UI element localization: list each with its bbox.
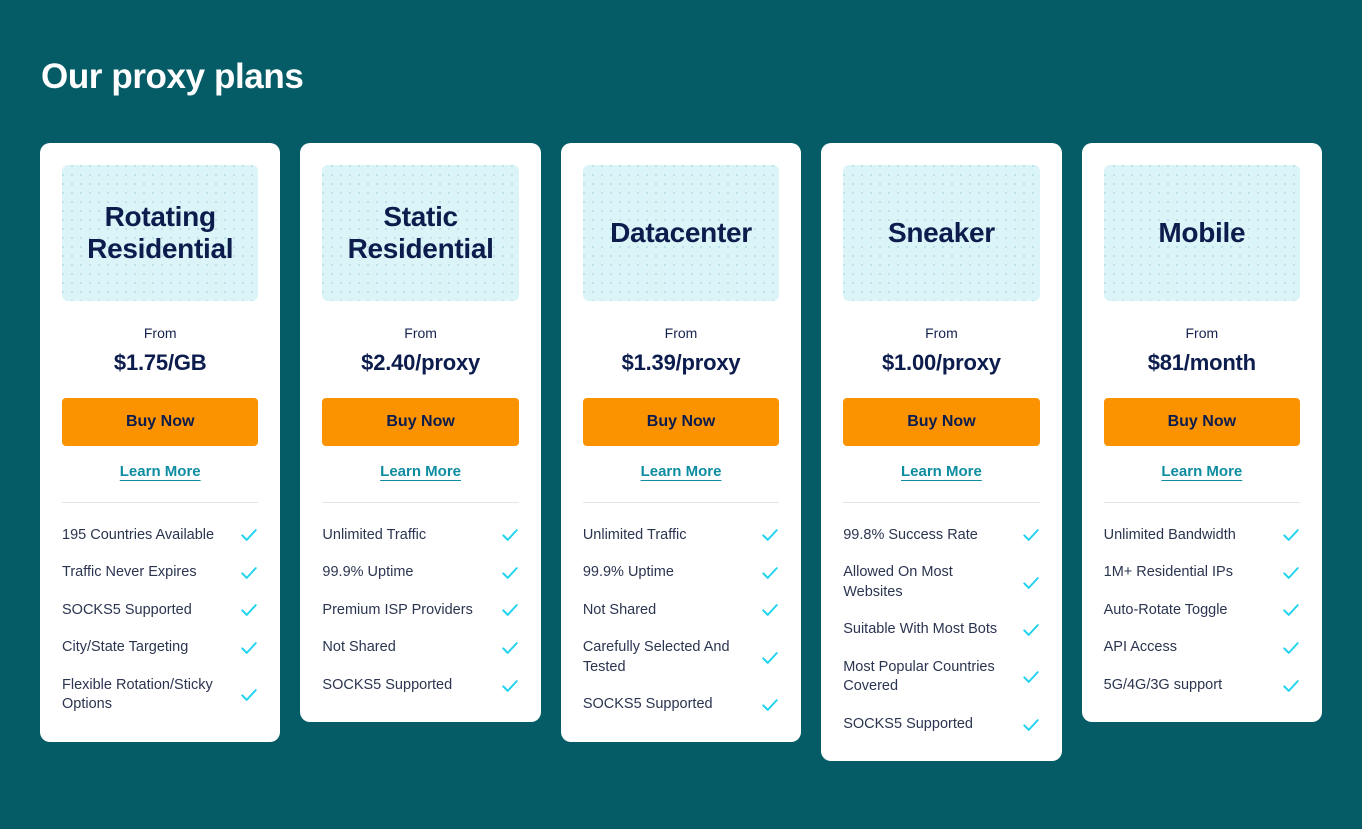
check-icon bbox=[1282, 601, 1300, 619]
feature-label: SOCKS5 Supported bbox=[322, 676, 490, 696]
learn-more-link[interactable]: Learn More bbox=[120, 463, 201, 480]
feature-item: Carefully Selected And Tested bbox=[583, 629, 779, 686]
check-icon bbox=[501, 526, 519, 544]
feature-label: 5G/4G/3G support bbox=[1104, 676, 1272, 696]
feature-label: 1M+ Residential IPs bbox=[1104, 563, 1272, 583]
feature-label: SOCKS5 Supported bbox=[583, 695, 751, 715]
plan-card: Rotating ResidentialFrom$1.75/GBBuy NowL… bbox=[40, 143, 280, 742]
feature-item: Allowed On Most Websites bbox=[843, 554, 1039, 611]
feature-item: Most Popular Countries Covered bbox=[843, 649, 1039, 706]
plan-banner: Sneaker bbox=[843, 165, 1039, 301]
check-icon bbox=[501, 639, 519, 657]
feature-label: SOCKS5 Supported bbox=[843, 715, 1011, 735]
feature-item: Unlimited Traffic bbox=[583, 517, 779, 555]
learn-more-wrapper: Learn More bbox=[583, 463, 779, 481]
learn-more-wrapper: Learn More bbox=[62, 463, 258, 481]
feature-list: Unlimited Traffic99.9% UptimeNot SharedC… bbox=[583, 507, 779, 724]
divider bbox=[1104, 502, 1300, 503]
plan-name: Mobile bbox=[1158, 217, 1245, 248]
plan-from-label: From bbox=[583, 325, 779, 341]
pricing-page: Our proxy plans Rotating ResidentialFrom… bbox=[0, 0, 1362, 829]
feature-item: Flexible Rotation/Sticky Options bbox=[62, 667, 258, 724]
check-icon bbox=[240, 686, 258, 704]
plan-name: Sneaker bbox=[888, 217, 995, 248]
feature-item: City/State Targeting bbox=[62, 629, 258, 667]
feature-label: Not Shared bbox=[322, 638, 490, 658]
check-icon bbox=[240, 601, 258, 619]
learn-more-link[interactable]: Learn More bbox=[1161, 463, 1242, 480]
feature-item: API Access bbox=[1104, 629, 1300, 667]
feature-item: Suitable With Most Bots bbox=[843, 611, 1039, 649]
feature-item: 99.9% Uptime bbox=[322, 554, 518, 592]
plan-banner: Static Residential bbox=[322, 165, 518, 301]
plan-card: MobileFrom$81/monthBuy NowLearn MoreUnli… bbox=[1082, 143, 1322, 723]
feature-label: Unlimited Traffic bbox=[583, 526, 751, 546]
plan-from-label: From bbox=[843, 325, 1039, 341]
plan-card: DatacenterFrom$1.39/proxyBuy NowLearn Mo… bbox=[561, 143, 801, 742]
learn-more-wrapper: Learn More bbox=[1104, 463, 1300, 481]
feature-item: 99.8% Success Rate bbox=[843, 517, 1039, 555]
feature-label: Most Popular Countries Covered bbox=[843, 658, 1011, 697]
learn-more-wrapper: Learn More bbox=[322, 463, 518, 481]
plan-price: $2.40/proxy bbox=[322, 350, 518, 376]
feature-item: 99.9% Uptime bbox=[583, 554, 779, 592]
feature-item: Unlimited Bandwidth bbox=[1104, 517, 1300, 555]
check-icon bbox=[1282, 564, 1300, 582]
check-icon bbox=[501, 601, 519, 619]
divider bbox=[62, 502, 258, 503]
check-icon bbox=[1022, 574, 1040, 592]
feature-list: Unlimited Bandwidth1M+ Residential IPsAu… bbox=[1104, 507, 1300, 705]
feature-label: Auto-Rotate Toggle bbox=[1104, 601, 1272, 621]
plan-from-label: From bbox=[62, 325, 258, 341]
feature-label: Suitable With Most Bots bbox=[843, 620, 1011, 640]
check-icon bbox=[1282, 677, 1300, 695]
feature-item: Not Shared bbox=[322, 629, 518, 667]
check-icon bbox=[1022, 716, 1040, 734]
feature-label: Flexible Rotation/Sticky Options bbox=[62, 676, 230, 715]
feature-label: 99.9% Uptime bbox=[583, 563, 751, 583]
buy-now-button[interactable]: Buy Now bbox=[843, 398, 1039, 446]
check-icon bbox=[1022, 668, 1040, 686]
feature-item: SOCKS5 Supported bbox=[62, 592, 258, 630]
buy-now-button[interactable]: Buy Now bbox=[583, 398, 779, 446]
feature-item: 1M+ Residential IPs bbox=[1104, 554, 1300, 592]
feature-label: API Access bbox=[1104, 638, 1272, 658]
feature-label: Premium ISP Providers bbox=[322, 601, 490, 621]
check-icon bbox=[501, 677, 519, 695]
plans-row: Rotating ResidentialFrom$1.75/GBBuy NowL… bbox=[40, 143, 1322, 762]
plan-banner: Rotating Residential bbox=[62, 165, 258, 301]
feature-label: 99.9% Uptime bbox=[322, 563, 490, 583]
feature-list: 195 Countries AvailableTraffic Never Exp… bbox=[62, 507, 258, 724]
feature-label: SOCKS5 Supported bbox=[62, 601, 230, 621]
plan-price: $1.39/proxy bbox=[583, 350, 779, 376]
learn-more-link[interactable]: Learn More bbox=[380, 463, 461, 480]
plan-name: Datacenter bbox=[610, 217, 752, 248]
feature-item: Premium ISP Providers bbox=[322, 592, 518, 630]
check-icon bbox=[240, 526, 258, 544]
buy-now-button[interactable]: Buy Now bbox=[322, 398, 518, 446]
plan-price: $81/month bbox=[1104, 350, 1300, 376]
check-icon bbox=[501, 564, 519, 582]
feature-item: SOCKS5 Supported bbox=[583, 686, 779, 724]
divider bbox=[322, 502, 518, 503]
page-title: Our proxy plans bbox=[40, 0, 1322, 97]
divider bbox=[843, 502, 1039, 503]
plan-card: SneakerFrom$1.00/proxyBuy NowLearn More9… bbox=[821, 143, 1061, 762]
learn-more-link[interactable]: Learn More bbox=[901, 463, 982, 480]
check-icon bbox=[240, 639, 258, 657]
feature-item: Traffic Never Expires bbox=[62, 554, 258, 592]
buy-now-button[interactable]: Buy Now bbox=[62, 398, 258, 446]
feature-label: Unlimited Bandwidth bbox=[1104, 526, 1272, 546]
check-icon bbox=[1282, 526, 1300, 544]
plan-name: Rotating Residential bbox=[70, 201, 250, 264]
feature-label: Not Shared bbox=[583, 601, 751, 621]
feature-item: Auto-Rotate Toggle bbox=[1104, 592, 1300, 630]
check-icon bbox=[761, 564, 779, 582]
check-icon bbox=[1022, 526, 1040, 544]
feature-label: Allowed On Most Websites bbox=[843, 563, 1011, 602]
plan-banner: Datacenter bbox=[583, 165, 779, 301]
feature-label: Traffic Never Expires bbox=[62, 563, 230, 583]
check-icon bbox=[761, 526, 779, 544]
check-icon bbox=[761, 696, 779, 714]
buy-now-button[interactable]: Buy Now bbox=[1104, 398, 1300, 446]
divider bbox=[583, 502, 779, 503]
feature-list: 99.8% Success RateAllowed On Most Websit… bbox=[843, 507, 1039, 744]
feature-item: 5G/4G/3G support bbox=[1104, 667, 1300, 705]
feature-label: 99.8% Success Rate bbox=[843, 526, 1011, 546]
plan-card: Static ResidentialFrom$2.40/proxyBuy Now… bbox=[300, 143, 540, 723]
check-icon bbox=[1022, 621, 1040, 639]
learn-more-link[interactable]: Learn More bbox=[641, 463, 722, 480]
learn-more-wrapper: Learn More bbox=[843, 463, 1039, 481]
check-icon bbox=[240, 564, 258, 582]
feature-label: City/State Targeting bbox=[62, 638, 230, 658]
feature-item: SOCKS5 Supported bbox=[843, 706, 1039, 744]
feature-label: Unlimited Traffic bbox=[322, 526, 490, 546]
plan-banner: Mobile bbox=[1104, 165, 1300, 301]
feature-list: Unlimited Traffic99.9% UptimePremium ISP… bbox=[322, 507, 518, 705]
check-icon bbox=[761, 649, 779, 667]
feature-item: Unlimited Traffic bbox=[322, 517, 518, 555]
feature-label: 195 Countries Available bbox=[62, 526, 230, 546]
plan-name: Static Residential bbox=[330, 201, 510, 264]
feature-item: SOCKS5 Supported bbox=[322, 667, 518, 705]
plan-price: $1.00/proxy bbox=[843, 350, 1039, 376]
check-icon bbox=[1282, 639, 1300, 657]
plan-price: $1.75/GB bbox=[62, 350, 258, 376]
feature-label: Carefully Selected And Tested bbox=[583, 638, 751, 677]
plan-from-label: From bbox=[322, 325, 518, 341]
feature-item: Not Shared bbox=[583, 592, 779, 630]
feature-item: 195 Countries Available bbox=[62, 517, 258, 555]
plan-from-label: From bbox=[1104, 325, 1300, 341]
check-icon bbox=[761, 601, 779, 619]
